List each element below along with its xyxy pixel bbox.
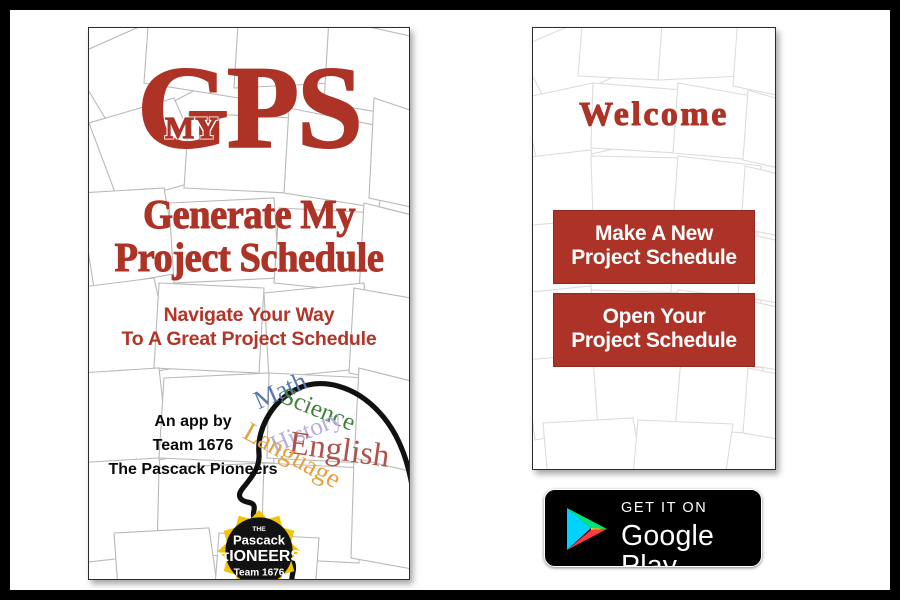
open-project-schedule-button[interactable]: Open Your Project Schedule (553, 293, 755, 367)
splash-screen-panel: GPS MY Generate My Project Schedule Navi… (88, 27, 410, 580)
team-logo-line2: Pascack (233, 532, 286, 547)
open-button-line2: Project Schedule (554, 329, 754, 353)
app-subtitle-line2: Project Schedule (104, 236, 394, 279)
page-canvas: GPS MY Generate My Project Schedule Navi… (10, 10, 890, 590)
google-play-top-text: GET IT ON (621, 501, 761, 516)
app-subtitle-line1: Generate My (104, 193, 394, 236)
make-new-project-schedule-button[interactable]: Make A New Project Schedule (553, 210, 755, 284)
app-tagline-line1: Navigate Your Way (99, 304, 399, 328)
welcome-screen-panel: Welcome Make A New Project Schedule Open… (532, 27, 776, 470)
google-play-bottom-text: Google Play (621, 521, 761, 568)
welcome-heading: Welcome (533, 96, 775, 134)
credits-line-1: An app by (103, 410, 283, 434)
make-new-button-line2: Project Schedule (554, 246, 754, 270)
app-subtitle: Generate My Project Schedule (104, 193, 394, 280)
app-tagline-line2: To A Great Project Schedule (99, 328, 399, 352)
open-button-line1: Open Your (554, 305, 754, 329)
app-logo: GPS MY (89, 54, 409, 163)
team-logo-line3: πIONEERS (217, 548, 301, 565)
credits-line-3: The Pascack Pioneers (103, 458, 283, 482)
credits-line-2: Team 1676 (103, 434, 283, 458)
app-credits: An app by Team 1676 The Pascack Pioneers (103, 410, 283, 482)
google-play-text: GET IT ON Google Play (621, 501, 761, 567)
app-logo-text: GPS (137, 54, 361, 163)
google-play-badge[interactable]: GET IT ON Google Play (544, 489, 762, 567)
google-play-triangle-icon (565, 506, 609, 552)
team-logo-badge: THE Pascack πIONEERS Team 1676 (217, 509, 301, 579)
app-logo-my-overlay: MY (165, 110, 219, 146)
make-new-button-line1: Make A New (554, 222, 754, 246)
app-tagline: Navigate Your Way To A Great Project Sch… (99, 304, 399, 352)
team-logo-line4: Team 1676 (234, 567, 285, 578)
